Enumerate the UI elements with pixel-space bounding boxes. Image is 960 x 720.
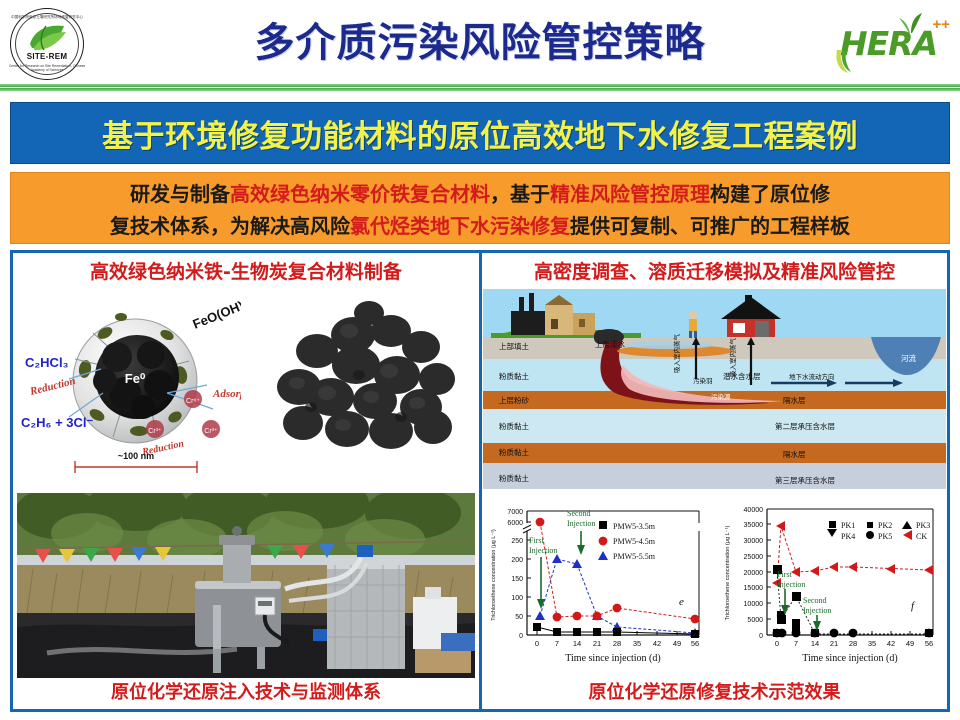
chart-f-annot-second-2: Injection (803, 606, 831, 615)
chart-f-annot-first-2: Injection (777, 580, 805, 589)
biochar-pellets-photo (241, 295, 469, 479)
chart-e-xtick-56: 56 (691, 639, 699, 648)
label-aquifer3: 第三层承压含水层 (775, 475, 835, 485)
chart-f-xtick-21: 21 (830, 639, 838, 648)
slide-header: 中国科学院南京土壤研究所场地修复研究中心 SITE-REM Center for… (0, 0, 960, 88)
label-source: 污染源 (711, 392, 731, 401)
chart-e-annot-first-2: Injection (529, 546, 557, 555)
label-flow: 地下水流动方向 (789, 372, 835, 381)
chart-f-xtick-49: 49 (906, 639, 914, 648)
chart-f-annot-first-1: First (777, 570, 792, 579)
chart-f-ylabel: Trichloroethene concentration (μg L⁻¹) (725, 525, 731, 620)
chart-e-xtick-14: 14 (573, 639, 581, 648)
valve-2 (313, 629, 327, 641)
chart-f-ytick-0: 0 (759, 633, 763, 640)
orange-banner-line-1: 研发与制备高效绿色纳米零价铁复合材料，基于精准风险管控原理构建了原位修 (21, 178, 939, 210)
label-river: 河流 (901, 353, 916, 363)
chart-e-legend-1: PMW5-3.5m (613, 522, 656, 531)
chart-e-annot-second-2: Injection (567, 519, 595, 528)
label-layer2: 粉质黏土 (499, 371, 529, 381)
orange-banner: 研发与制备高效绿色纳米零价铁复合材料，基于精准风险管控原理构建了原位修 复技术体… (10, 172, 950, 244)
label-perched: 上层滞水 (595, 339, 625, 349)
chart-f-xlabel: Time since injection (d) (802, 653, 897, 664)
in-situ-injection-equipment-photo (17, 493, 475, 678)
chart-e-xtick-28: 28 (613, 639, 621, 648)
chart-e-ytick-50: 50 (515, 614, 523, 621)
badge-cr6: Cr⁶⁺ (186, 398, 200, 405)
footer-label-left: 原位化学还原注入技术与监测体系 (13, 679, 479, 707)
label-layer1: 上部填土 (499, 341, 529, 351)
chart-e-legend-3: PMW5-5.5m (613, 552, 656, 561)
section-header-right: 高密度调查、溶质迁移模拟及精准风险管控 (482, 257, 947, 287)
steel-tank (327, 559, 405, 669)
label-aquifer2: 第二层承压含水层 (775, 421, 835, 431)
supply-boxes (415, 649, 471, 673)
blue-banner: 基于环境修复功能材料的原位高效地下水修复工程案例 (10, 102, 950, 164)
core-label: Fe⁰ (125, 371, 146, 386)
chart-f-xtick-35: 35 (868, 639, 876, 648)
label-plume: 污染羽 (693, 376, 713, 385)
chart-e-ylabel: Trichloroethene concentration (μg L⁻¹) (491, 529, 497, 621)
chart-f-ytick-15000: 15000 (744, 585, 764, 592)
chart-f-legend-6: CK (916, 532, 927, 541)
chart-e-ytick-250: 250 (511, 538, 523, 545)
label-layer5: 粉质黏土 (499, 447, 529, 457)
reactant-label: C₂HCl₃ (25, 355, 69, 370)
leaf-icon (26, 22, 68, 54)
chart-e-ytick-7000: 7000 (507, 509, 523, 516)
scale-label: ~100 nm (118, 451, 154, 461)
page-title: 多介质污染风险管控策略 (150, 12, 810, 74)
section-header-left: 高效绿色纳米铁-生物炭复合材料制备 (13, 257, 479, 287)
chart-e-annot-first-1: First (529, 536, 544, 545)
chart-f-ytick-35000: 35000 (744, 522, 764, 529)
badge-cr3-b: Cr³⁺ (204, 428, 218, 435)
logo-arc-top: 中国科学院南京土壤研究所场地修复研究中心 (8, 15, 86, 20)
chart-f-xtick-7: 7 (794, 639, 798, 648)
column-divider (479, 253, 482, 709)
label-vapor1: 吸入室内蒸气 (672, 334, 681, 374)
chart-e-xtick-21: 21 (593, 639, 601, 648)
chart-e-xtick-42: 42 (653, 639, 661, 648)
hera-logo: HERA ++ (832, 8, 954, 78)
orange-banner-line-2: 复技术体系，为解决高风险氯代烃类地下水污染修复提供可复制、可推广的工程样板 (21, 210, 939, 242)
chart-f-xtick-42: 42 (887, 639, 895, 648)
chart-e-ytick-0: 0 (519, 633, 523, 640)
label-aquitard1: 隔水层 (783, 395, 806, 405)
chart-e: 7000 6000 250 200 150 100 50 0 0 7 14 21… (483, 493, 715, 678)
chart-e-xlabel: Time since injection (d) (565, 653, 660, 664)
chart-f-ytick-30000: 30000 (744, 538, 764, 545)
chart-f-legend-3: PK3 (916, 521, 930, 530)
chart-f-ytick-20000: 20000 (744, 570, 764, 577)
reduction-label-left: Reduction (28, 375, 77, 398)
chart-f-ytick-40000: 40000 (744, 507, 764, 514)
logo-center-text: SITE-REM (8, 52, 86, 61)
chart-f-legend-5: PK5 (878, 532, 892, 541)
label-aquitard2: 隔水层 (783, 449, 806, 459)
chart-e-annot-second-1: Second (567, 509, 591, 518)
label-layer4: 粉质黏土 (499, 421, 529, 431)
label-layer3: 上层粉砂 (499, 395, 529, 405)
chart-f-legend-4: PK4 (841, 532, 855, 541)
label-vapor2: 吸入室内蒸气 (728, 338, 737, 378)
chart-f-xtick-28: 28 (849, 639, 857, 648)
chart-e-ytick-200: 200 (511, 557, 523, 564)
header-divider (0, 84, 960, 91)
swoosh-icon (834, 48, 856, 74)
hera-superscript: ++ (932, 16, 950, 33)
logo-arc-bottom: Center for Research on Site Remediation,… (8, 64, 86, 72)
chart-e-xtick-35: 35 (633, 639, 641, 648)
chart-f-legend-2: PK2 (878, 521, 892, 530)
site-rem-logo: 中国科学院南京土壤研究所场地修复研究中心 SITE-REM Center for… (8, 6, 86, 82)
hydrogeology-cross-section: 上部填土 粉质黏土 上层粉砂 粉质黏土 粉质黏土 粉质黏土 上层滞水 潜水含水层… (483, 289, 946, 489)
shell-label: FeO(OH) (191, 298, 246, 332)
chart-f-legend-1: PK1 (841, 521, 855, 530)
footer-label-right: 原位化学还原修复技术示范效果 (482, 679, 947, 707)
chart-e-xtick-7: 7 (555, 639, 559, 648)
label-layer6: 粉质黏土 (499, 473, 529, 483)
chart-f-xtick-56: 56 (925, 639, 933, 648)
product-label: C₂H₆ + 3Cl⁻ (21, 415, 94, 430)
chart-e-xtick-49: 49 (673, 639, 681, 648)
chart-e-ytick-150: 150 (511, 576, 523, 583)
label-aquifer1: 潜水含水层 (723, 371, 761, 381)
chart-f: 40000 35000 30000 25000 20000 15000 1000… (715, 493, 947, 678)
chart-e-ytick-6000: 6000 (507, 520, 523, 527)
chart-e-panel-label: e (679, 596, 684, 608)
chart-e-ytick-100: 100 (511, 595, 523, 602)
chart-f-ytick-10000: 10000 (744, 601, 764, 608)
chart-f-xtick-14: 14 (811, 639, 819, 648)
valve-1 (357, 545, 373, 557)
chart-e-legend-2: PMW5-4.5m (613, 537, 656, 546)
badge-cr3-a: Cr³⁺ (148, 428, 162, 435)
chart-e-xtick-0: 0 (535, 639, 539, 648)
chart-f-ytick-25000: 25000 (744, 554, 764, 561)
chart-f-annot-second-1: Second (803, 596, 827, 605)
chart-f-ytick-5000: 5000 (747, 617, 763, 624)
chart-f-xtick-0: 0 (775, 639, 779, 648)
blue-banner-text: 基于环境修复功能材料的原位高效地下水修复工程案例 (102, 111, 858, 156)
content-frame: 高效绿色纳米铁-生物炭复合材料制备 高密度调查、溶质迁移模拟及精准风险管控 (10, 250, 950, 712)
